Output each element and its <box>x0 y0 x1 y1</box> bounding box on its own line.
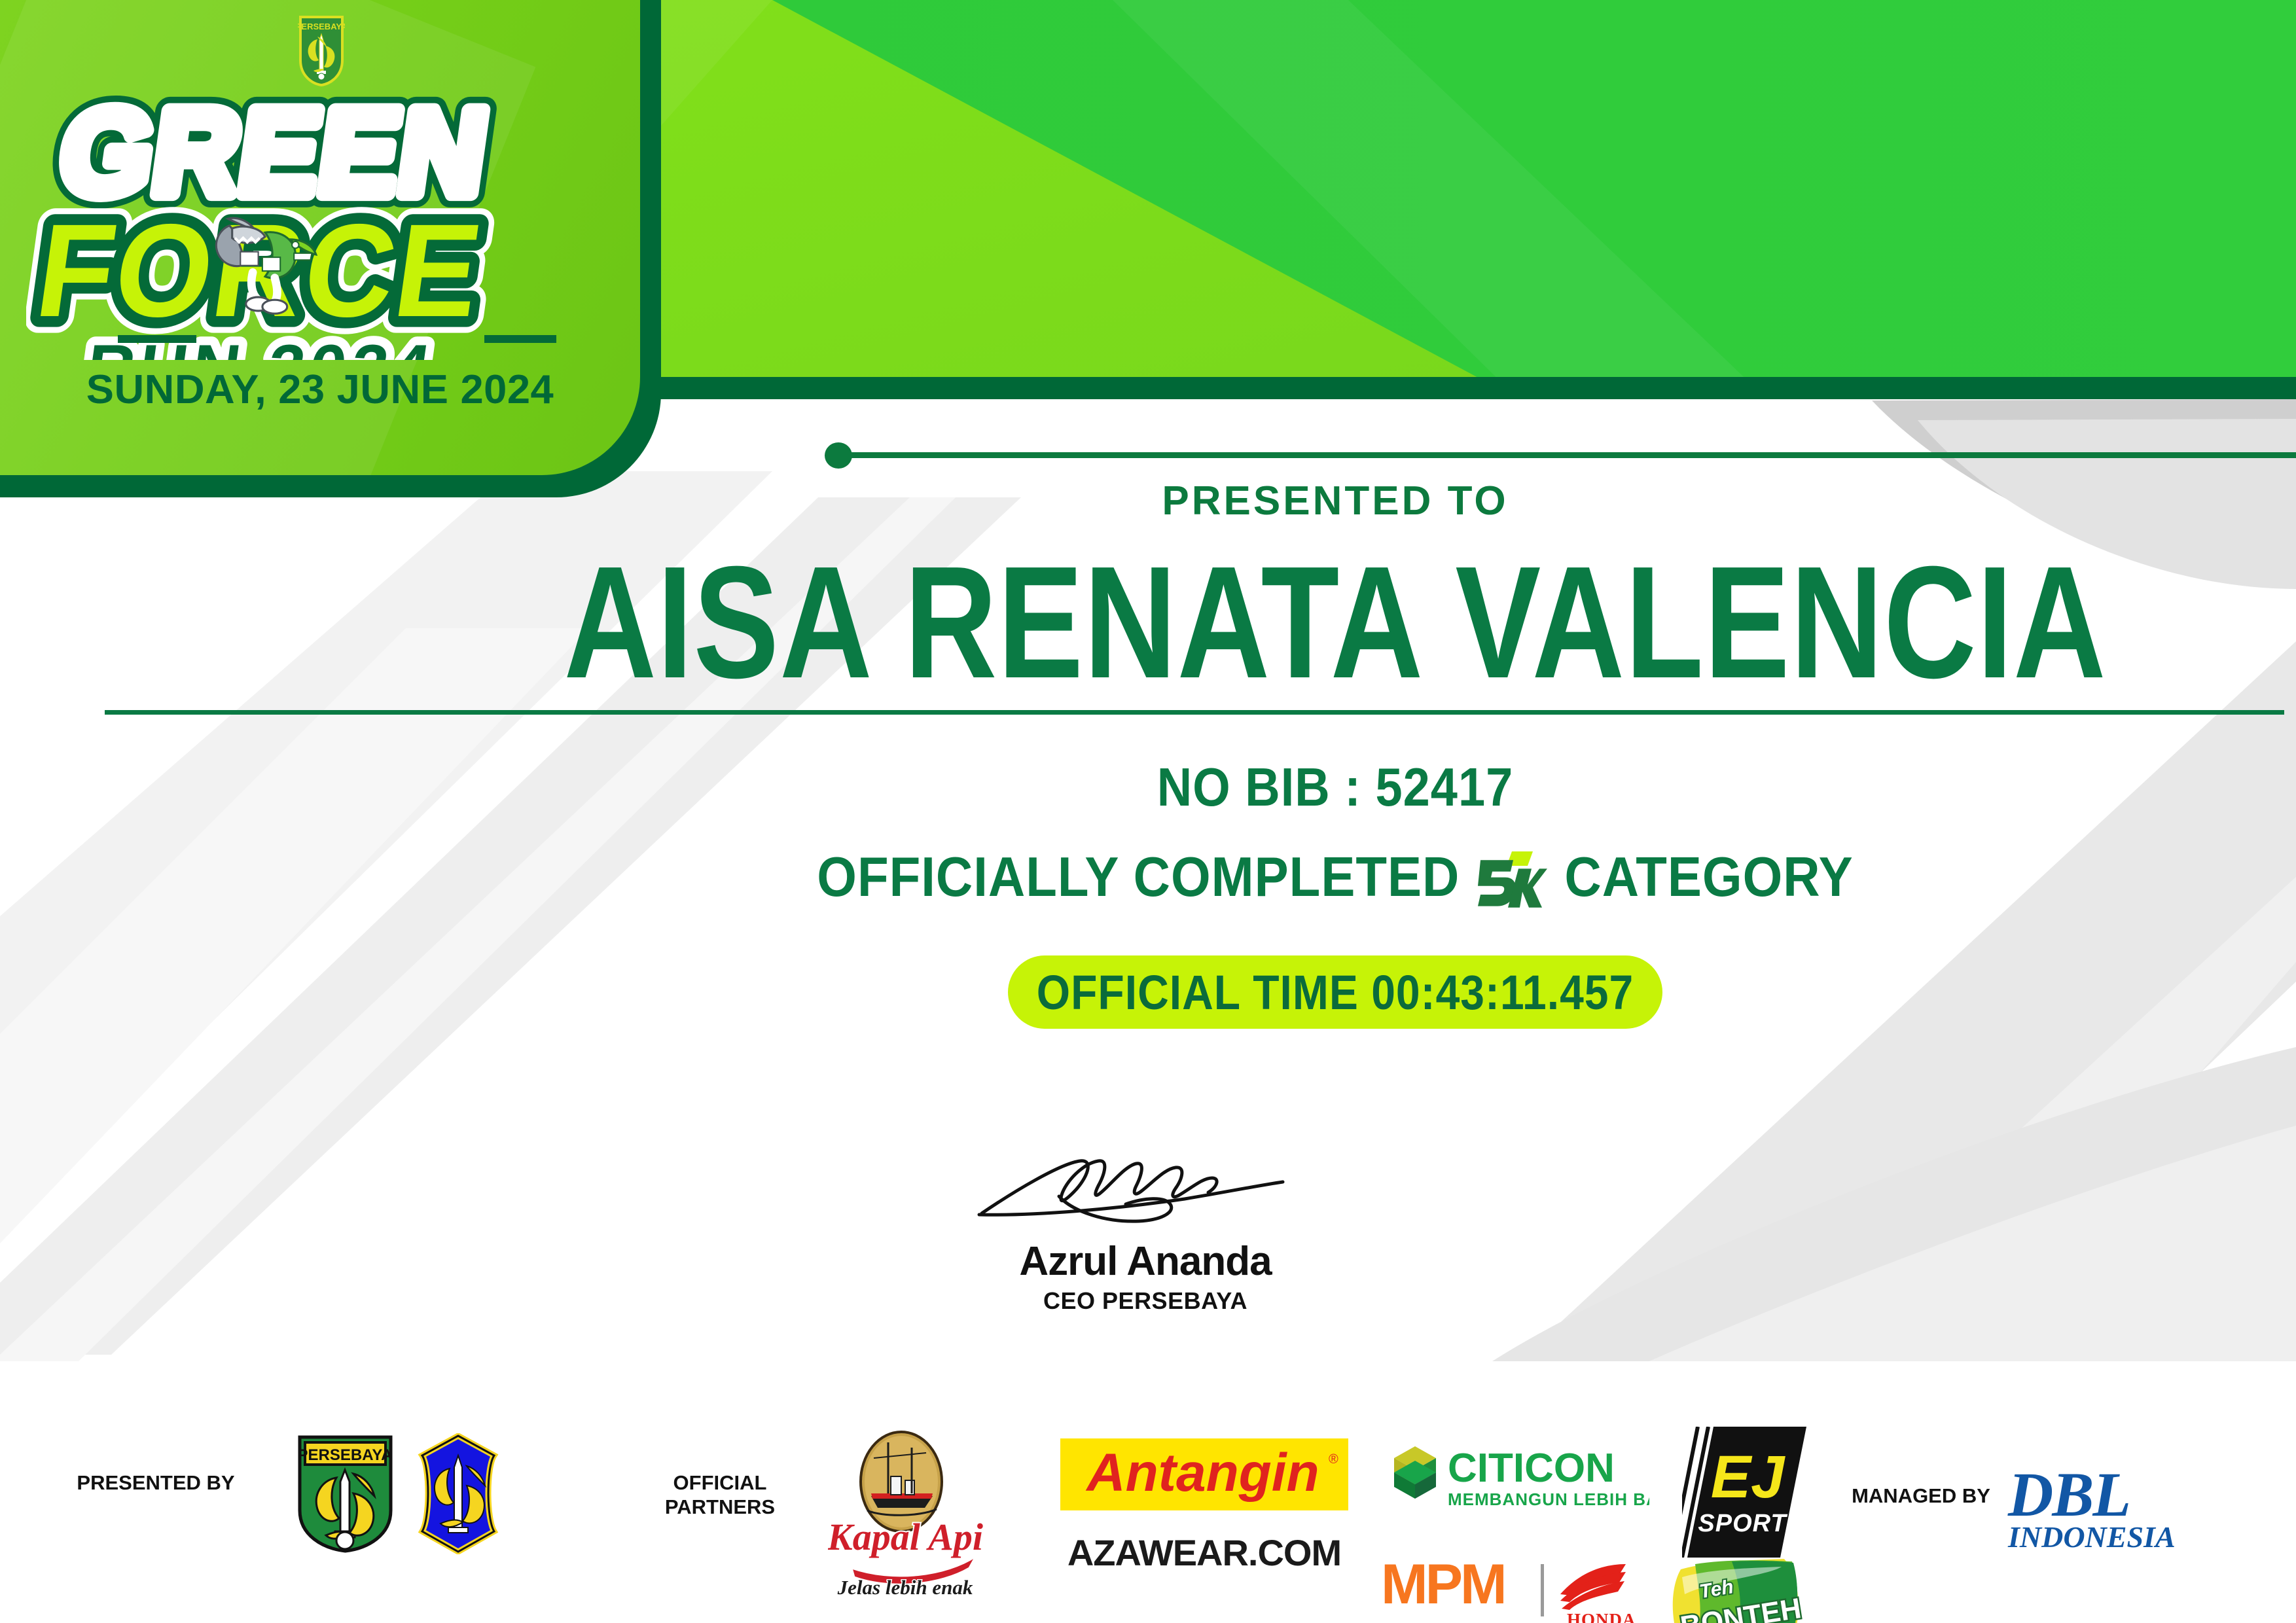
category-5k-icon <box>1477 849 1547 910</box>
svg-text:PERSEBAYA: PERSEBAYA <box>298 22 345 31</box>
svg-text:Antangin: Antangin <box>1085 1443 1319 1503</box>
footer-logo-persebaya-crest: PERSEBAYA <box>295 1433 396 1554</box>
signature-block: Azrul Ananda CEO PERSEBAYA <box>916 1152 1374 1342</box>
signatory-role: CEO PERSEBAYA <box>916 1287 1374 1315</box>
handwritten-signature <box>942 1152 1348 1230</box>
recipient-name-rule <box>105 710 2284 715</box>
footer-logo-citicon: CITICON MEMBANGUN LEBIH BAIK <box>1388 1438 1649 1514</box>
svg-text:RUN 2024: RUN 2024 <box>81 330 439 360</box>
completed-prefix: OFFICIALLY COMPLETED <box>817 844 1460 910</box>
persebaya-crest-icon: PERSEBAYA <box>298 14 345 88</box>
completed-suffix: CATEGORY <box>1564 844 1853 910</box>
svg-text:®: ® <box>1329 1452 1338 1467</box>
svg-text:HONDA: HONDA <box>1567 1610 1636 1623</box>
event-logo-block: PERSEBAYA .gf-out{ font-family:"Liberati… <box>0 0 640 475</box>
footer-logo-teh-bonteh: Teh BONTEH <box>1669 1558 1813 1623</box>
sponsor-footer: PRESENTED BY PERSEBAYA OFF <box>0 1361 2296 1623</box>
footer-logo-mpm-honda: MPM HONDA <box>1381 1558 1656 1623</box>
svg-text:SPORT: SPORT <box>1698 1510 1787 1537</box>
footer-logo-dbl-indonesia: DBL INDONESIA <box>2003 1459 2219 1558</box>
signatory-name: Azrul Ananda <box>916 1238 1374 1285</box>
svg-text:Jelas lebih enak: Jelas lebih enak <box>837 1576 973 1599</box>
presented-by-label: PRESENTED BY <box>71 1471 241 1495</box>
official-partners-line1: OFFICIAL <box>648 1471 792 1495</box>
footer-logo-azawear: AZAWEAR.COM <box>1060 1531 1348 1574</box>
official-time-badge: OFFICIAL TIME 00:43:11.457 <box>1008 955 1662 1029</box>
footer-logo-ej-sport: EJ SPORT <box>1682 1427 1806 1558</box>
green-force-wordmark: .gf-out{ font-family:"Liberation Sans",s… <box>26 92 615 360</box>
completion-statement: OFFICIALLY COMPLETED CATEGORY <box>661 844 2009 910</box>
svg-text:MPM: MPM <box>1381 1558 1505 1616</box>
svg-text:INDONESIA: INDONESIA <box>2007 1520 2176 1554</box>
footer-logo-kapal-api: Kapal Api Jelas lebih enak <box>828 1428 988 1601</box>
managed-by-label: MANAGED BY <box>1826 1484 2016 1508</box>
svg-text:MEMBANGUN LEBIH BAIK: MEMBANGUN LEBIH BAIK <box>1448 1489 1649 1509</box>
official-partners-line2: PARTNERS <box>648 1495 792 1520</box>
divider-line <box>851 452 2296 458</box>
svg-text:PERSEBAYA: PERSEBAYA <box>298 1446 393 1464</box>
event-date: SUNDAY, 23 JUNE 2024 <box>0 366 647 413</box>
certificate-root: CERTIFICATE OF FINISHER PERSEBAYA <box>0 0 2296 1623</box>
svg-text:CITICON: CITICON <box>1448 1446 1615 1491</box>
svg-text:DBL: DBL <box>2007 1459 2130 1529</box>
footer-logo-surabaya-crest <box>409 1433 507 1554</box>
presented-to-label: PRESENTED TO <box>661 478 2009 524</box>
certificate-body: PRESENTED TO AISA RENATA VALENCIA NO BIB… <box>661 458 2296 1322</box>
official-time-text: OFFICIAL TIME 00:43:11.457 <box>1037 964 1634 1020</box>
bib-number: NO BIB : 52417 <box>661 756 2009 818</box>
footer-logo-antangin: Antangin ® <box>1060 1438 1348 1510</box>
official-partners-label: OFFICIAL PARTNERS <box>648 1471 792 1519</box>
svg-text:FORCE: FORCE <box>28 196 491 344</box>
recipient-name: AISA RENATA VALENCIA <box>405 543 2265 703</box>
svg-text:EJ: EJ <box>1711 1444 1785 1510</box>
svg-text:Kapal Api: Kapal Api <box>828 1516 983 1558</box>
